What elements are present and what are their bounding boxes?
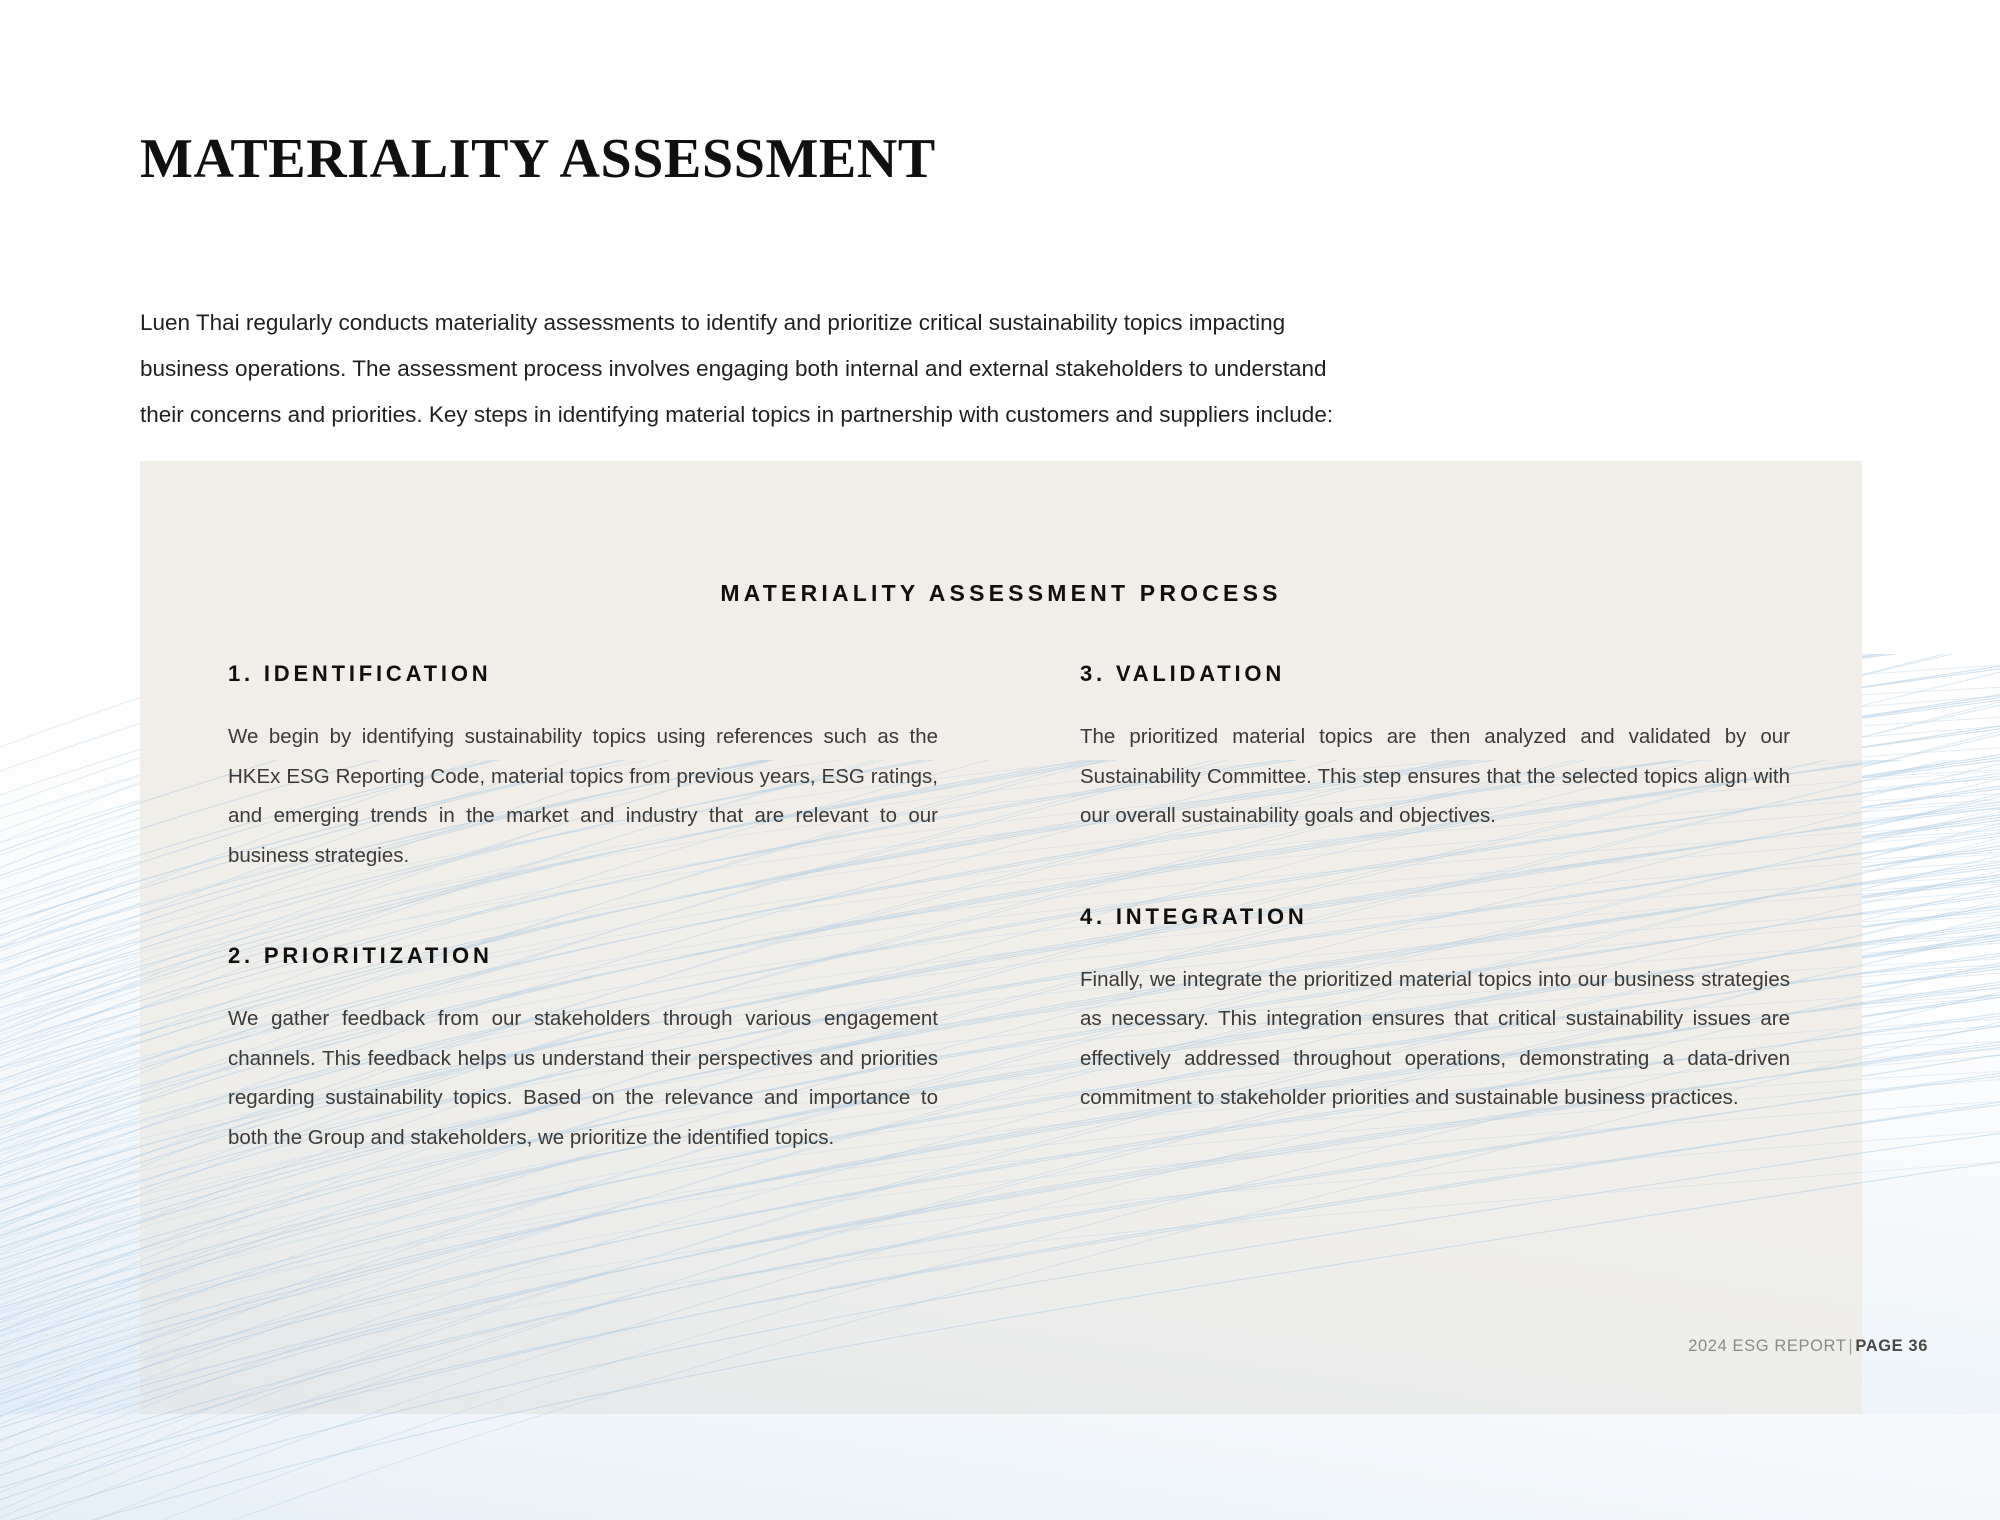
footer-page-number: PAGE 36 xyxy=(1855,1337,1928,1355)
footer-report-label: 2024 ESG REPORT xyxy=(1688,1337,1846,1355)
step-title-integration: 4. INTEGRATION xyxy=(1080,904,1790,930)
process-step-prioritization: 2. PRIORITIZATION We gather feedback fro… xyxy=(228,943,938,1157)
intro-line-2: business operations. The assessment proc… xyxy=(140,346,1865,392)
step-body-integration: Finally, we integrate the prioritized ma… xyxy=(1080,960,1790,1118)
page-title: MATERIALITY ASSESSMENT xyxy=(140,128,1040,191)
step-title-prioritization: 2. PRIORITIZATION xyxy=(228,943,938,969)
process-heading: MATERIALITY ASSESSMENT PROCESS xyxy=(140,580,1862,607)
intro-paragraph: Luen Thai regularly conducts materiality… xyxy=(140,300,1865,438)
materiality-process-panel: MATERIALITY ASSESSMENT PROCESS 1. IDENTI… xyxy=(140,461,1862,1414)
footer-separator: | xyxy=(1848,1337,1853,1355)
intro-line-1: Luen Thai regularly conducts materiality… xyxy=(140,300,1865,346)
process-step-identification: 1. IDENTIFICATION We begin by identifyin… xyxy=(228,661,938,875)
page-footer: 2024 ESG REPORT|PAGE 36 xyxy=(1688,1337,1928,1356)
document-page: MATERIALITY ASSESSMENT Luen Thai regular… xyxy=(0,0,2000,1414)
process-column-left: 1. IDENTIFICATION We begin by identifyin… xyxy=(228,661,938,1157)
step-body-prioritization: We gather feedback from our stakeholders… xyxy=(228,999,938,1157)
process-step-integration: 4. INTEGRATION Finally, we integrate the… xyxy=(1080,904,1790,1118)
step-title-validation: 3. VALIDATION xyxy=(1080,661,1790,687)
step-title-identification: 1. IDENTIFICATION xyxy=(228,661,938,687)
intro-line-3: their concerns and priorities. Key steps… xyxy=(140,392,1865,438)
step-body-validation: The prioritized material topics are then… xyxy=(1080,717,1790,836)
step-body-identification: We begin by identifying sustainability t… xyxy=(228,717,938,875)
process-column-right: 3. VALIDATION The prioritized material t… xyxy=(1080,661,1790,1157)
process-steps-grid: 1. IDENTIFICATION We begin by identifyin… xyxy=(228,661,1790,1157)
process-step-validation: 3. VALIDATION The prioritized material t… xyxy=(1080,661,1790,836)
